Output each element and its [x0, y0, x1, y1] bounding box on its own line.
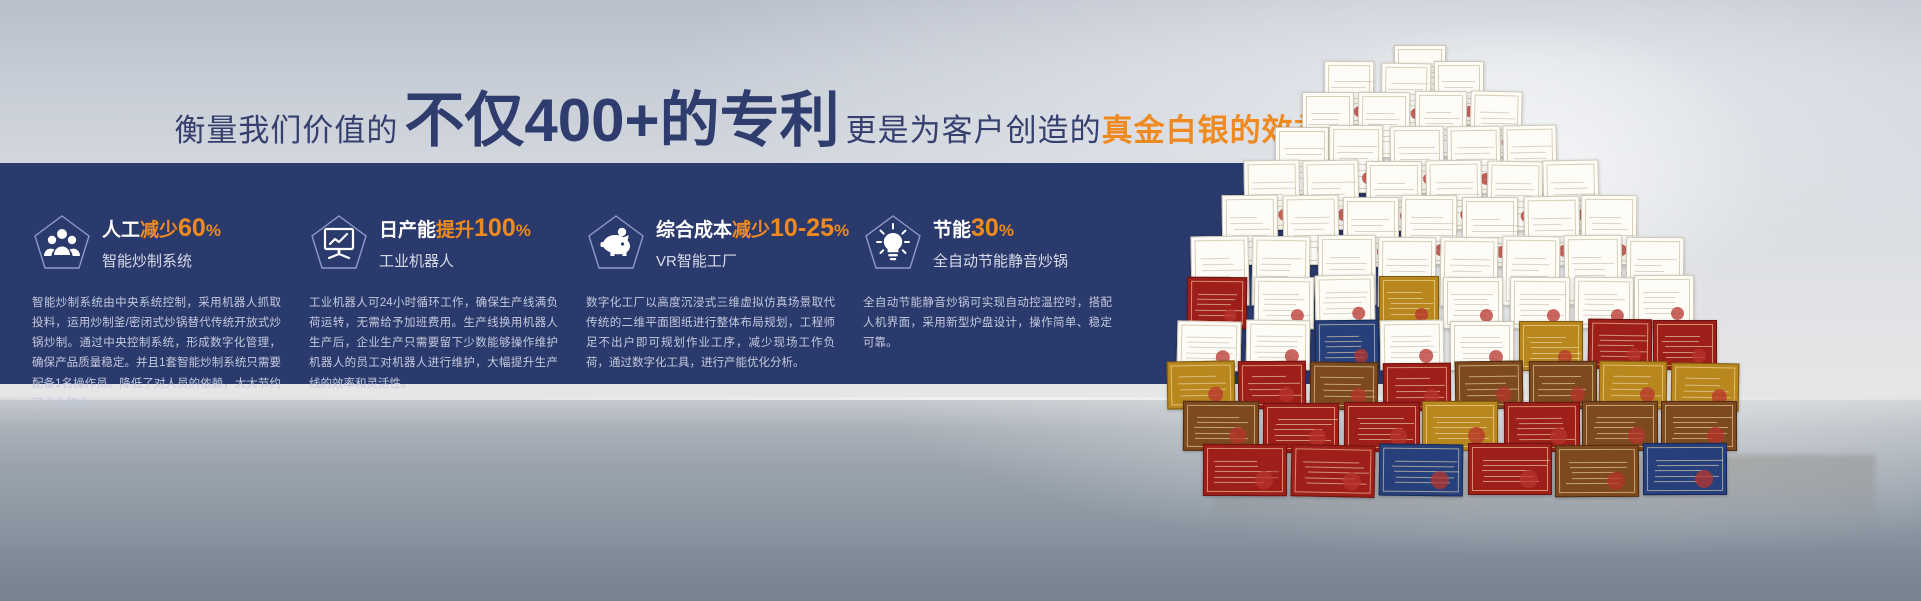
certificate-text-line — [1391, 271, 1426, 272]
certificate-inner-border — [1602, 364, 1662, 405]
feature-card-body: 智能炒制系统由中央系统控制，采用机器人抓取投料，运用炒制釜/密闭式炒锅替代传统开… — [32, 293, 281, 414]
certificate-text-line — [1230, 217, 1257, 218]
certificate-seal — [1254, 471, 1272, 489]
certificate-seal — [1415, 308, 1428, 321]
certificate-inner-border — [1187, 405, 1255, 447]
certificate-text-line — [1454, 299, 1487, 300]
certificate-text-line — [1411, 217, 1443, 218]
certificate-text-line — [1387, 292, 1422, 293]
certificate-text-line — [1570, 467, 1628, 468]
certificate-item — [1643, 442, 1727, 494]
certificate-inner-border — [1267, 407, 1335, 449]
feature-card-header: 综合成本减少10-25% VR智能工厂 — [586, 213, 835, 271]
title-number: 60 — [178, 214, 206, 242]
certificate-text-line — [1231, 223, 1263, 224]
certificate-text-line — [1252, 376, 1286, 377]
certificate-text-line — [1388, 298, 1423, 299]
chart-easel-icon — [309, 213, 369, 271]
feature-card[interactable]: 日产能提升100% 工业机器人 工业机器人可24小时循环工作，确保生产线满负荷运… — [295, 163, 572, 384]
certificate-inner-border — [1171, 364, 1232, 405]
certificate-item — [1555, 445, 1639, 497]
certificate-text-line — [1483, 465, 1547, 466]
certificate-text-line — [1286, 154, 1322, 155]
feature-card-body: 数字化工厂以高度沉浸式三维虚拟仿真场景取代传统的二维平面图纸进行整体布局规划，工… — [586, 293, 835, 374]
certificate-text-line — [1320, 377, 1364, 378]
certificate-text-line — [1374, 189, 1414, 190]
feature-card-body: 工业机器人可24小时循环工作，确保生产线满负荷运转，无需给予加班费用。生产线换用… — [309, 293, 558, 394]
certificate-inner-border — [1294, 448, 1371, 494]
certificate-text-line — [1312, 119, 1338, 120]
certificate-text-line — [1454, 304, 1489, 305]
certificate-text-line — [1311, 113, 1341, 114]
certificate-text-line — [1324, 396, 1375, 398]
title-percent: % — [516, 221, 531, 240]
certificate-text-line — [1262, 293, 1298, 294]
certificate-text-line — [1574, 269, 1605, 270]
feature-card-title: 人工减少60% — [102, 213, 221, 244]
certificate-seal — [1707, 427, 1724, 444]
certificate-text-line — [1276, 424, 1333, 425]
certificate-text-line — [1515, 418, 1562, 419]
certificate-text-line — [1399, 153, 1439, 154]
certificate-item — [1468, 443, 1552, 495]
certificate-text-line — [1473, 225, 1517, 226]
certificate-text-line — [1673, 422, 1717, 423]
feature-card[interactable]: 综合成本减少10-25% VR智能工厂 数字化工厂以高度沉浸式三维虚拟仿真场景取… — [572, 163, 849, 384]
certificate-text-line — [1654, 481, 1698, 482]
certificate-inner-border — [1426, 405, 1494, 447]
certificate-text-line — [1214, 460, 1257, 461]
feature-card-subtitle: VR智能工厂 — [656, 250, 849, 271]
certificate-text-line — [1595, 422, 1634, 423]
certificate-text-line — [1572, 472, 1615, 473]
certificate-inner-border — [1314, 365, 1374, 406]
certificate-text-line — [1398, 147, 1436, 148]
certificate-text-line — [1611, 382, 1648, 383]
feature-card-header: 日产能提升100% 工业机器人 — [309, 213, 558, 271]
certificate-text-line — [1473, 231, 1517, 232]
certificate-inner-border — [1348, 406, 1416, 448]
certificate-award-wall — [1180, 40, 1921, 510]
certificate-text-line — [1284, 148, 1325, 149]
certificate-text-line — [1520, 299, 1561, 300]
certificate-text-line — [1451, 270, 1481, 272]
certificate-text-line — [1594, 427, 1634, 428]
headline-lead: 衡量我们价值的 — [174, 105, 398, 150]
feature-card-subtitle: 工业机器人 — [379, 250, 531, 271]
certificate-text-line — [1634, 264, 1662, 265]
certificate-text-line — [1597, 417, 1652, 418]
certificate-text-line — [1655, 470, 1702, 471]
certificate-text-line — [1451, 258, 1490, 260]
certificate-seal — [1628, 427, 1645, 444]
people-group-icon — [32, 213, 92, 271]
certificate-text-line — [1590, 217, 1622, 218]
certificate-text-line — [1574, 275, 1605, 276]
certificate-text-line — [1331, 86, 1366, 87]
certificate-text-line — [1585, 304, 1614, 305]
certificate-text-line — [1294, 229, 1324, 230]
certificate-text-line — [1278, 419, 1339, 420]
certificate-inner-border — [1586, 405, 1654, 447]
feature-card-header: 节能30% 全自动节能静音炒锅 — [863, 213, 1112, 271]
certificate-text-line — [1252, 395, 1302, 396]
certificate-text-line — [1465, 382, 1506, 384]
title-number: 30 — [971, 214, 999, 242]
piggy-bank-icon — [586, 213, 646, 271]
certificate-text-line — [1388, 88, 1423, 90]
certificate-text-line — [1449, 264, 1489, 266]
certificate-text-line — [1443, 81, 1476, 82]
certificate-text-line — [1613, 376, 1651, 377]
certificate-text-line — [1377, 183, 1406, 184]
certificate-text-line — [1391, 83, 1428, 85]
certificate-text-line — [1572, 262, 1613, 263]
feature-card[interactable]: 人工减少60% 智能炒制系统 智能炒制系统由中央系统控制，采用机器人抓取投料，运… — [18, 163, 295, 384]
certificate-text-line — [1356, 418, 1403, 419]
certificate-text-line — [1672, 417, 1732, 418]
title-percent: % — [999, 221, 1014, 240]
feature-card-title: 节能30% — [933, 213, 1068, 244]
certificate-text-line — [1656, 459, 1723, 460]
certificate-text-line — [1395, 384, 1445, 385]
certificate-item — [1290, 444, 1375, 498]
certificate-text-line — [1593, 223, 1622, 224]
certificate-text-line — [1234, 229, 1270, 230]
title-percent: % — [206, 221, 221, 240]
certificate-text-line — [1413, 229, 1452, 230]
title-lead: 日产能 — [379, 220, 436, 241]
certificate-text-line — [1324, 389, 1374, 391]
certificate-text-line — [1569, 461, 1628, 462]
certificate-seal — [1520, 470, 1538, 488]
title-highlight: 提升 — [436, 220, 474, 241]
title-lead: 综合成本 — [656, 220, 732, 241]
feature-card-header: 人工减少60% 智能炒制系统 — [32, 213, 281, 271]
feature-card-body: 全自动节能静音炒锅可实现自动控温控时，搭配人机界面，采用新型炉盘设计，操作简单、… — [863, 293, 1112, 353]
certificate-text-line — [1263, 309, 1295, 310]
certificate-text-line — [1338, 152, 1373, 153]
certificate-inner-border — [1508, 406, 1576, 448]
certificate-text-line — [1657, 464, 1719, 465]
certificate-text-line — [1354, 231, 1396, 232]
certificate-inner-border — [1533, 365, 1593, 405]
title-highlight: 减少 — [140, 220, 178, 241]
title-number: 100 — [474, 214, 516, 242]
certificate-text-line — [1248, 382, 1300, 383]
certificate-text-line — [1330, 257, 1360, 258]
certificate-text-line — [1329, 269, 1365, 270]
certificate-item — [1378, 444, 1463, 497]
certificate-seal — [1695, 469, 1713, 487]
certificate-seal — [1430, 472, 1448, 490]
certificate-inner-border — [1459, 364, 1520, 405]
feature-card[interactable]: 节能30% 全自动节能静音炒锅 全自动节能静音炒锅可实现自动控温控时，搭配人机界… — [849, 163, 1126, 384]
feature-card-heading: 日产能提升100% 工业机器人 — [379, 213, 531, 270]
title-lead: 人工 — [102, 220, 140, 241]
certificate-text-line — [1396, 378, 1430, 379]
certificate-text-line — [1517, 433, 1555, 434]
certificate-text-line — [1294, 216, 1329, 218]
title-highlight: 减少 — [732, 220, 770, 241]
certificate-text-line — [1214, 465, 1257, 466]
certificate-text-line — [1593, 229, 1629, 230]
certificate-text-line — [1519, 423, 1563, 424]
headline-emphasis: 不仅400+的专利 — [404, 72, 839, 159]
certificate-item — [1203, 443, 1287, 495]
certificate-inner-border — [1647, 446, 1723, 490]
certificate-text-line — [1483, 459, 1549, 460]
certificate-inner-border — [1665, 405, 1733, 447]
certificate-text-line — [1638, 258, 1678, 259]
certificate-text-line — [1444, 87, 1473, 88]
title-percent: % — [834, 221, 849, 240]
feature-card-heading: 节能30% 全自动节能静音炒锅 — [933, 213, 1068, 270]
certificate-text-line — [1350, 225, 1382, 226]
feature-card-heading: 综合成本减少10-25% VR智能工厂 — [656, 213, 849, 270]
feature-card-subtitle: 智能炒制系统 — [102, 250, 221, 271]
feature-card-heading: 人工减少60% 智能炒制系统 — [102, 213, 221, 270]
certificate-text-line — [1671, 438, 1711, 439]
certificate-text-line — [1451, 293, 1493, 294]
certificate-text-line — [1391, 303, 1434, 304]
title-lead: 节能 — [933, 220, 971, 241]
certificate-seal — [1479, 309, 1492, 322]
certificate-text-line — [1359, 423, 1413, 424]
certificate-text-line — [1471, 219, 1500, 220]
feature-card-subtitle: 全自动节能静音炒锅 — [933, 250, 1068, 271]
certificate-inner-border — [1242, 364, 1302, 404]
certificate-text-line — [1636, 271, 1664, 272]
certificate-text-line — [1266, 315, 1311, 316]
certificate-text-line — [1409, 223, 1453, 224]
certificate-seal — [1342, 472, 1360, 490]
certificate-text-line — [1572, 256, 1601, 257]
title-number: 10-25 — [770, 214, 834, 242]
certificate-text-line — [1264, 298, 1304, 299]
certificate-text-line — [1518, 304, 1548, 305]
certificate-text-line — [1290, 223, 1328, 225]
certificate-text-line — [1264, 304, 1295, 305]
certificate-text-line — [1351, 219, 1389, 220]
certificate-text-line — [1584, 293, 1618, 294]
certificate-inner-border — [1559, 449, 1635, 493]
certificate-text-line — [1334, 81, 1372, 82]
certificate-text-line — [1436, 422, 1479, 423]
certificate-seal — [1351, 307, 1364, 320]
lightbulb-icon — [863, 213, 923, 271]
certificate-text-line — [1519, 310, 1549, 311]
certificate-seal — [1607, 472, 1625, 490]
certificate-text-line — [1337, 146, 1377, 147]
feature-card-title: 综合成本减少10-25% — [656, 213, 849, 244]
certificate-text-line — [1324, 383, 1361, 384]
feature-card-title: 日产能提升100% — [379, 213, 531, 244]
headline-middle: 更是为客户创造的 — [846, 105, 1102, 150]
certificate-text-line — [1375, 195, 1404, 196]
